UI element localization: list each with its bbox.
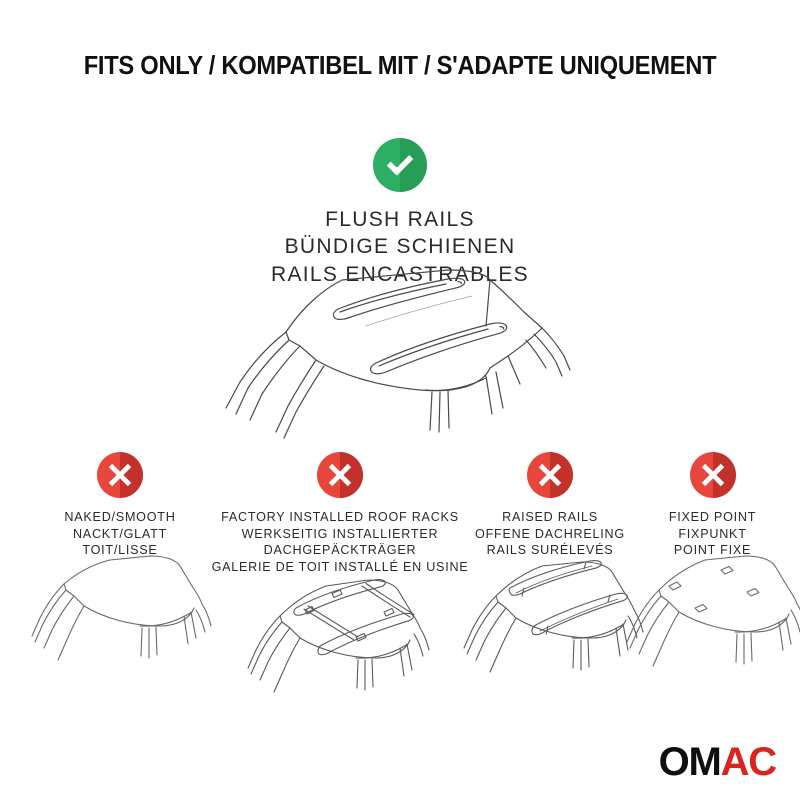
option-label-de: NACKT/GLATT (20, 526, 220, 543)
option-labels: FACTORY INSTALLED ROOF RACKS WERKSEITIG … (205, 509, 475, 576)
compatible-section: FLUSH RAILS BÜNDIGE SCHIENEN RAILS ENCAS… (0, 138, 800, 288)
car-roof-raised-rails-illustration (452, 552, 648, 685)
logo-text-dark: OM (659, 740, 721, 784)
car-roof-factory-racks-illustration (234, 568, 446, 703)
omac-logo: OMAC (659, 742, 776, 782)
x-circle-icon (527, 452, 573, 498)
option-label-de: FIXPUNKT (630, 526, 795, 543)
option-label-de: OFFENE DACHRELING (450, 526, 650, 543)
x-circle-icon (317, 452, 363, 498)
compatible-label-en: FLUSH RAILS (0, 206, 800, 233)
incompatible-options-row: NAKED/SMOOTH NACKT/GLATT TOIT/LISSE (0, 452, 800, 692)
compatible-label-de: BÜNDIGE SCHIENEN (0, 233, 800, 260)
car-roof-flush-rails-illustration (190, 268, 630, 443)
option-factory-roof-racks: FACTORY INSTALLED ROOF RACKS WERKSEITIG … (205, 452, 475, 576)
option-label-en: NAKED/SMOOTH (20, 509, 220, 526)
page-title: FITS ONLY / KOMPATIBEL MIT / S'ADAPTE UN… (28, 52, 772, 81)
check-circle-icon (373, 138, 427, 192)
option-label-de-2: DACHGEPÄCKTRÄGER (205, 542, 475, 559)
option-fixed-point: FIXED POINT FIXPUNKT POINT FIXE (630, 452, 795, 559)
option-label-en: RAISED RAILS (450, 509, 650, 526)
x-circle-icon (690, 452, 736, 498)
option-label-en: FACTORY INSTALLED ROOF RACKS (205, 509, 475, 526)
page-header: FITS ONLY / KOMPATIBEL MIT / S'ADAPTE UN… (0, 52, 800, 81)
car-roof-fixed-point-illustration (621, 548, 800, 680)
x-circle-icon (97, 452, 143, 498)
option-label-en: FIXED POINT (630, 509, 795, 526)
option-label-de-1: WERKSEITIG INSTALLIERTER (205, 526, 475, 543)
option-raised-rails: RAISED RAILS OFFENE DACHRELING RAILS SUR… (450, 452, 650, 559)
logo-text-red: AC (721, 740, 776, 784)
car-roof-naked-smooth-illustration (22, 552, 218, 682)
option-naked-smooth: NAKED/SMOOTH NACKT/GLATT TOIT/LISSE (20, 452, 220, 559)
